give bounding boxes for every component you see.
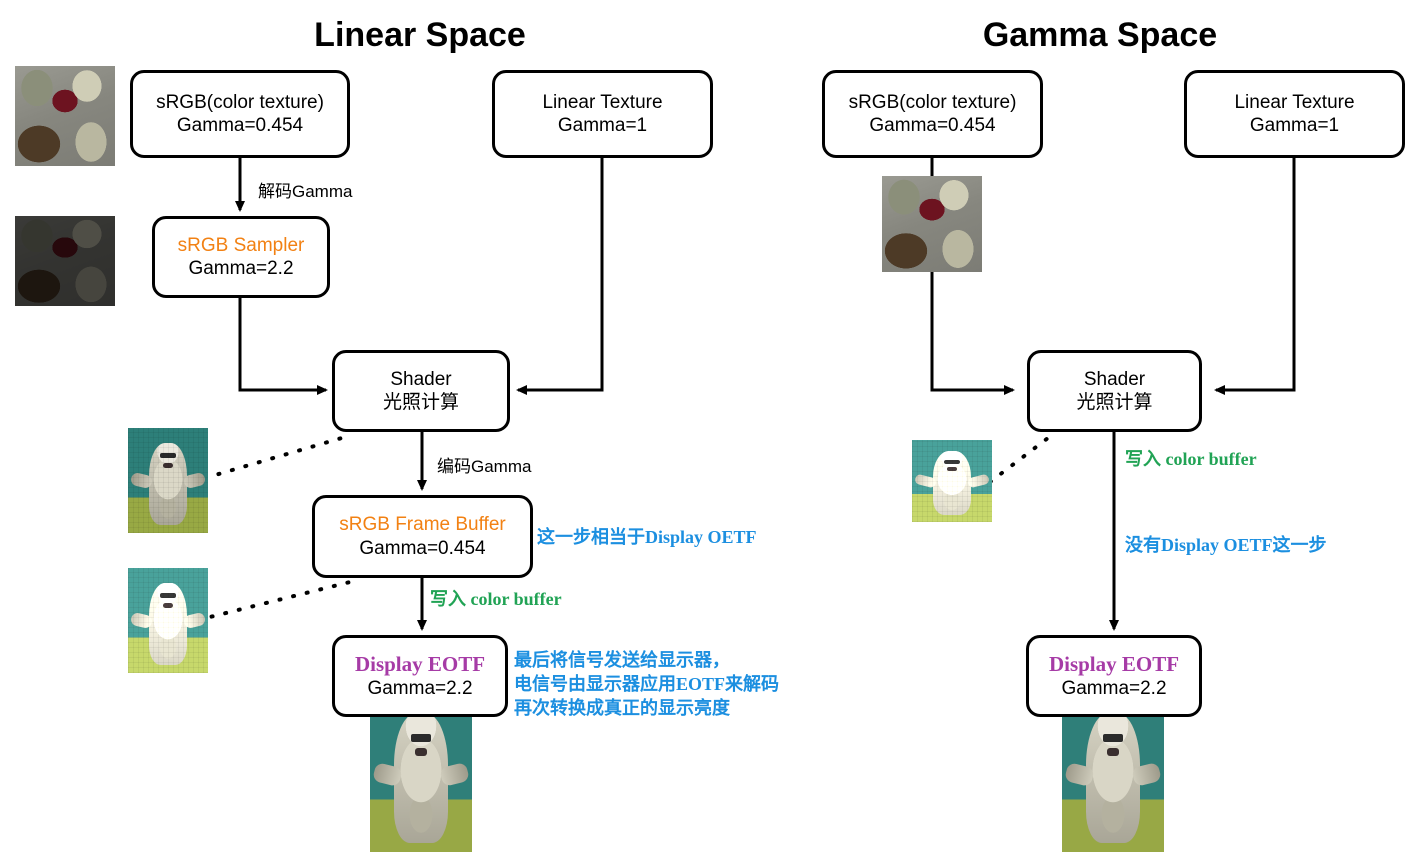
- node-label-line1: Linear Texture: [542, 91, 662, 114]
- edge-label-write-color-buffer-linear: 写入 color buffer: [430, 585, 562, 611]
- diagram-canvas: Linear Space Gamma Space sRGB(color text…: [0, 0, 1420, 855]
- edge-lineartexture-to-shader-gamma: [1216, 158, 1294, 390]
- edge-label-decode-gamma: 解码Gamma: [258, 177, 352, 202]
- callout-framebuffer-thumbnail: [198, 582, 350, 620]
- node-label-line2: Gamma=0.454: [177, 114, 303, 137]
- node-label-line2: Gamma=0.454: [359, 537, 485, 560]
- image-texture-linearized: [15, 216, 115, 306]
- edge-lineartexture-to-shader: [518, 158, 602, 390]
- node-shader-linear[interactable]: Shader 光照计算: [332, 350, 510, 432]
- column-title-linear: Linear Space: [250, 16, 590, 55]
- annotation-oetf-note: 这一步相当于Display OETF: [537, 525, 757, 549]
- node-label-line2: Gamma=0.454: [869, 114, 995, 137]
- image-render-final-linear: [370, 697, 472, 852]
- node-display-eotf-gamma[interactable]: Display EOTF Gamma=2.2: [1026, 635, 1202, 717]
- node-shader-gamma[interactable]: Shader 光照计算: [1027, 350, 1202, 432]
- node-label-line2: Gamma=2.2: [367, 677, 472, 700]
- node-label-line1: Shader: [1084, 368, 1145, 391]
- annotation-eotf-note-line1: 最后将信号发送给显示器，: [514, 648, 730, 672]
- node-srgb-sampler[interactable]: sRGB Sampler Gamma=2.2: [152, 216, 330, 298]
- column-title-gamma: Gamma Space: [930, 16, 1270, 55]
- callout-shaderout-thumbnail: [205, 435, 352, 478]
- node-linear-texture-gamma[interactable]: Linear Texture Gamma=1: [1184, 70, 1405, 158]
- edge-label-write-color-buffer-gamma: 写入 color buffer: [1125, 445, 1257, 471]
- node-label-line1: Shader: [390, 368, 451, 391]
- node-label-line2: Gamma=2.2: [188, 257, 293, 280]
- node-srgb-color-texture-gamma[interactable]: sRGB(color texture) Gamma=0.454: [822, 70, 1043, 158]
- node-srgb-frame-buffer[interactable]: sRGB Frame Buffer Gamma=0.454: [312, 495, 533, 578]
- node-label-line2: Gamma=2.2: [1061, 677, 1166, 700]
- node-label-line2: 光照计算: [1076, 391, 1152, 414]
- image-render-framebuffer-linear: [128, 568, 208, 673]
- node-label-line2: 光照计算: [383, 391, 459, 414]
- annotation-eotf-note-line3: 再次转换成真正的显示亮度: [514, 696, 730, 720]
- node-label-line1: sRGB(color texture): [849, 91, 1017, 114]
- callout-shaderout-thumbnail-gamma: [990, 438, 1048, 482]
- image-render-final-gamma: [1062, 697, 1164, 852]
- image-render-shader-out-gamma: [912, 440, 992, 522]
- edge-sampler-to-shader: [240, 298, 326, 390]
- annotation-eotf-note-line2: 电信号由显示器应用EOTF来解码: [514, 672, 779, 696]
- node-label-line1: Display EOTF: [355, 652, 485, 678]
- node-linear-texture-linear[interactable]: Linear Texture Gamma=1: [492, 70, 713, 158]
- node-label-line2: Gamma=1: [1250, 114, 1339, 137]
- node-display-eotf-linear[interactable]: Display EOTF Gamma=2.2: [332, 635, 508, 717]
- node-label-line1: sRGB Frame Buffer: [339, 513, 505, 536]
- node-label-line2: Gamma=1: [558, 114, 647, 137]
- node-label-line1: Linear Texture: [1234, 91, 1354, 114]
- edge-label-encode-gamma: 编码Gamma: [437, 452, 531, 477]
- node-srgb-color-texture-linear[interactable]: sRGB(color texture) Gamma=0.454: [130, 70, 350, 158]
- image-texture-srgb-linear: [15, 66, 115, 166]
- node-label-line1: sRGB(color texture): [156, 91, 324, 114]
- node-label-line1: sRGB Sampler: [178, 234, 305, 257]
- annotation-no-oetf-note: 没有Display OETF这一步: [1125, 533, 1327, 557]
- image-texture-srgb-gamma: [882, 176, 982, 272]
- image-render-shader-out-linear: [128, 428, 208, 533]
- node-label-line1: Display EOTF: [1049, 652, 1179, 678]
